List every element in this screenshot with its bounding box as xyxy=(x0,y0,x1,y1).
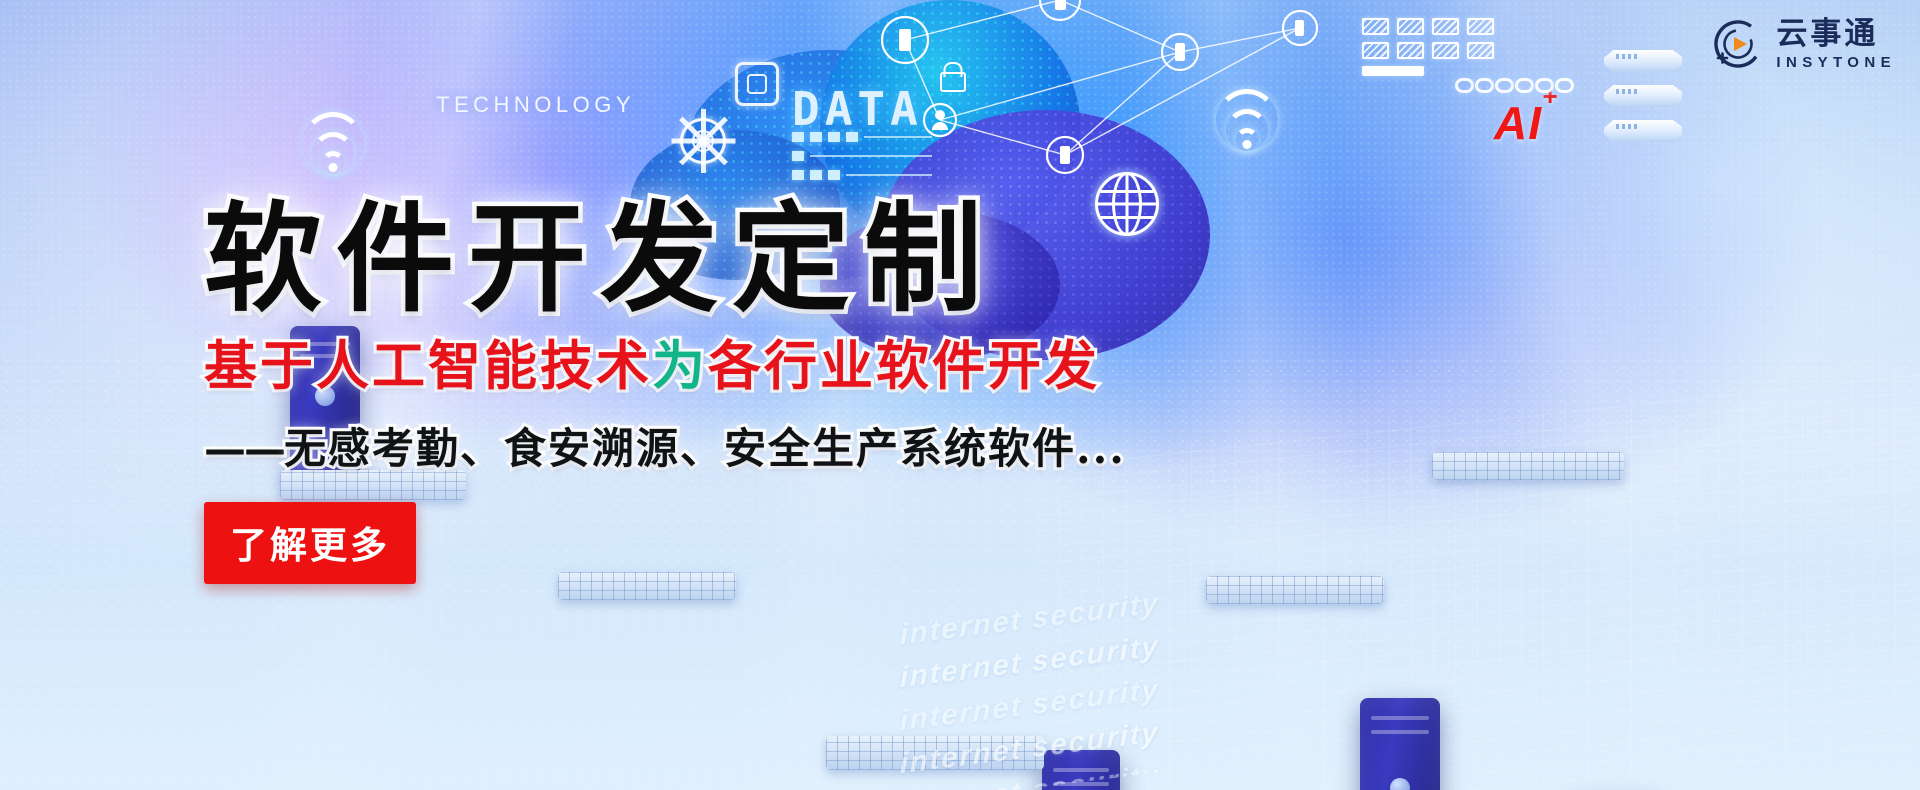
logo-name-en: INSYTONE xyxy=(1776,55,1896,70)
hero-subtitle: 基于人工智能技术为各行业软件开发 xyxy=(204,337,1264,395)
gear-icon xyxy=(680,118,726,164)
keyboard xyxy=(1432,452,1624,480)
chip-icon xyxy=(1604,120,1682,142)
brand-logo[interactable]: 云事通 INSYTONE xyxy=(1712,18,1896,70)
chip-icon xyxy=(1604,85,1682,107)
tagline-text: 无感考勤、食安溯源、安全生产系统软件... xyxy=(284,424,1126,473)
wifi-icon xyxy=(298,128,368,174)
circular-play-logo-icon xyxy=(1712,18,1764,70)
chip-icon xyxy=(1604,50,1682,72)
hero-banner: TECHNOLOGY DATA AI+ xyxy=(0,0,1920,790)
lock-icon xyxy=(940,72,966,92)
data-bars-icon xyxy=(792,132,932,189)
tagline-dash: —— xyxy=(204,424,284,473)
page-title: 软件开发定制 xyxy=(204,196,1264,321)
subtitle-part-2: 各行业软件开发 xyxy=(708,335,1100,397)
wifi-icon xyxy=(1212,105,1282,151)
subtitle-part-1: 基于人工智能技术 xyxy=(204,335,652,397)
hero-copy: 软件开发定制 基于人工智能技术为各行业软件开发 ——无感考勤、食安溯源、安全生产… xyxy=(204,196,1264,584)
data-label: DATA xyxy=(792,82,923,136)
chain-link-icon xyxy=(1455,78,1574,93)
chip-icon-stack xyxy=(1604,50,1682,142)
processor-icon xyxy=(735,62,779,106)
learn-more-button[interactable]: 了解更多 xyxy=(204,502,416,584)
ai-label: AI xyxy=(1494,97,1542,149)
server-rack-icon xyxy=(1362,18,1494,76)
technology-label: TECHNOLOGY xyxy=(436,92,635,118)
ai-plus-label: AI+ xyxy=(1494,96,1558,150)
logo-name-cn: 云事通 xyxy=(1776,19,1896,50)
hero-tagline: ——无感考勤、食安溯源、安全生产系统软件... xyxy=(204,415,1264,476)
logo-wordmark: 云事通 INSYTONE xyxy=(1776,19,1896,70)
subtitle-highlight: 为 xyxy=(652,335,708,397)
